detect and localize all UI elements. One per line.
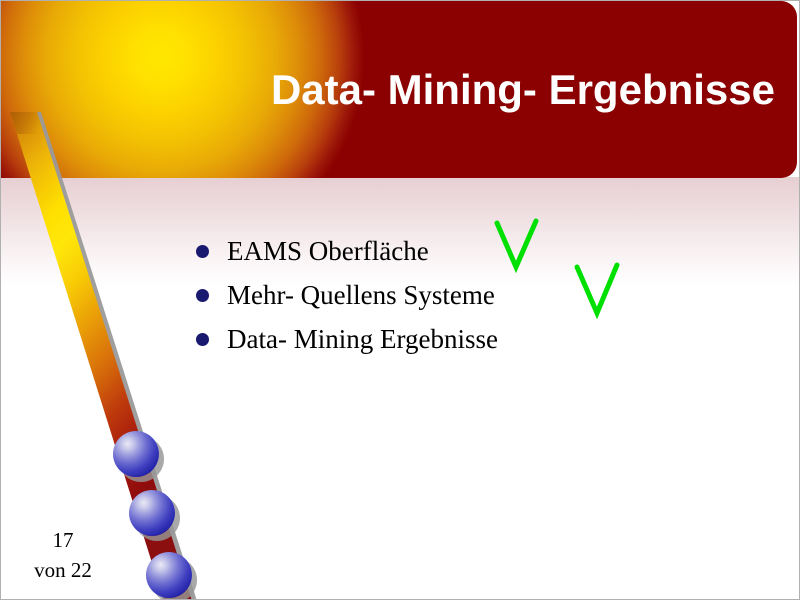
blue-sphere-decoration	[146, 552, 192, 598]
blue-sphere-decoration	[129, 490, 175, 536]
filled-circle-bullet-icon	[196, 245, 209, 258]
bullet-list: EAMS Oberfläche Mehr- Quellens Systeme D…	[196, 229, 776, 361]
list-item: Mehr- Quellens Systeme	[196, 273, 776, 317]
filled-circle-bullet-icon	[196, 289, 209, 302]
slide-title: Data- Mining- Ergebnisse	[271, 65, 775, 115]
list-item-label: EAMS Oberfläche	[227, 235, 429, 267]
list-item: EAMS Oberfläche	[196, 229, 776, 273]
slide-header-banner: Data- Mining- Ergebnisse	[1, 1, 797, 178]
page-number-current: 17	[15, 525, 111, 555]
page-number: 17 von 22	[15, 525, 111, 585]
presentation-slide: Data- Mining- Ergebnisse	[0, 0, 800, 600]
filled-circle-bullet-icon	[196, 333, 209, 346]
list-item-label: Data- Mining Ergebnisse	[227, 323, 498, 355]
blue-sphere-decoration	[113, 431, 159, 477]
list-item-label: Mehr- Quellens Systeme	[227, 279, 495, 311]
list-item: Data- Mining Ergebnisse	[196, 317, 776, 361]
page-number-total: von 22	[15, 555, 111, 585]
